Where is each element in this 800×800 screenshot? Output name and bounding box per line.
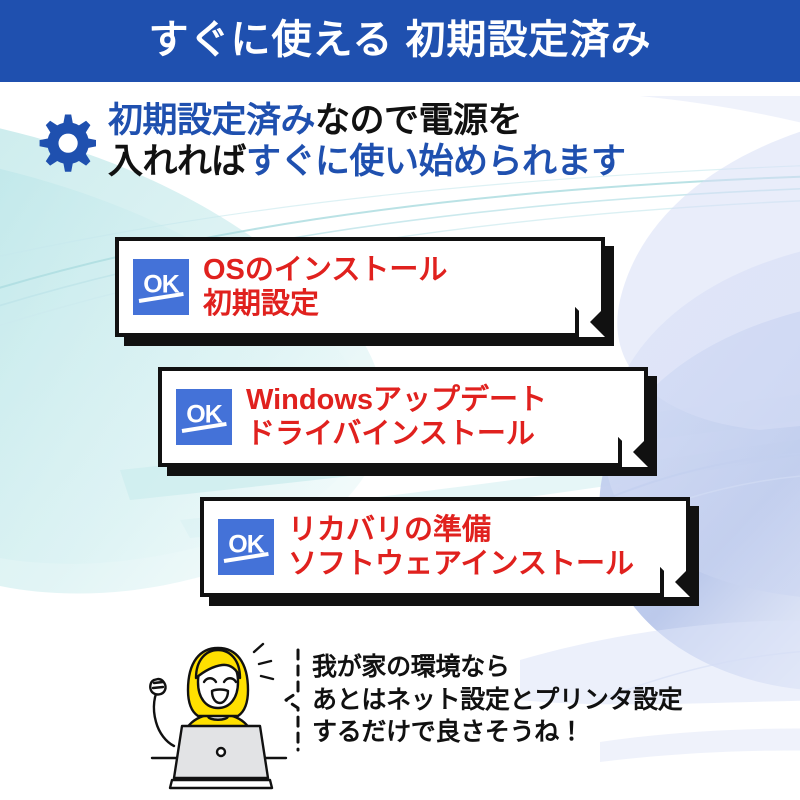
headline-line-1: 初期設定済みなので電源を xyxy=(108,100,626,141)
speech-callout: 我が家の環境なら あとはネット設定とプリンタ設定 するだけで良さそうね！ xyxy=(282,648,683,752)
checklist-item-3-line-2: ソフトウェアインストール xyxy=(288,547,634,581)
speech-line-2: あとはネット設定とプリンタ設定 xyxy=(312,684,683,717)
checklist-item-1-line-2: 初期設定 xyxy=(203,287,447,321)
headline-line-2: 入れればすぐに使い始められます xyxy=(108,141,626,182)
box-frame-2: OK Windowsアップデート ドライバインストール xyxy=(158,367,648,467)
headline-text: 初期設定済みなので電源を 入れればすぐに使い始められます xyxy=(108,98,626,183)
checklist-item-2-text: Windowsアップデート ドライバインストール xyxy=(246,383,547,451)
speech-line-3: するだけで良さそうね！ xyxy=(312,716,683,749)
ok-badge-icon: OK xyxy=(133,259,189,315)
speech-line-1: 我が家の環境なら xyxy=(312,651,683,684)
box-frame-1: OK OSのインストール 初期設定 xyxy=(115,237,605,337)
headline-section: 初期設定済みなので電源を 入れればすぐに使い始められます xyxy=(34,98,774,208)
checklist-item-2: OK Windowsアップデート ドライバインストール xyxy=(158,367,648,467)
speech-text: 我が家の環境なら あとはネット設定とプリンタ設定 するだけで良さそうね！ xyxy=(312,651,683,749)
checklist-item-2-line-2: ドライバインストール xyxy=(246,417,547,451)
checklist-item-1-text: OSのインストール 初期設定 xyxy=(203,253,447,321)
checklist-item-3-line-1: リカバリの準備 xyxy=(288,513,634,547)
box-frame-3: OK リカバリの準備 ソフトウェアインストール xyxy=(200,497,690,597)
headline-line-1-blue: 初期設定済み xyxy=(108,101,315,140)
poster-canvas: すぐに使える 初期設定済み 初期設定済みなので電源を 入れればすぐに使い始められ… xyxy=(0,0,800,800)
ok-badge-icon: OK xyxy=(218,519,274,575)
checklist-item-1: OK OSのインストール 初期設定 xyxy=(115,237,605,337)
gear-icon xyxy=(34,112,96,174)
checklist-item-3: OK リカバリの準備 ソフトウェアインストール xyxy=(200,497,690,597)
checklist-item-2-line-1: Windowsアップデート xyxy=(246,383,547,417)
checklist-item-1-line-1: OSのインストール xyxy=(203,253,447,287)
header-banner: すぐに使える 初期設定済み xyxy=(0,0,800,82)
woman-with-laptop-icon xyxy=(138,638,298,793)
headline-line-2-blue: すぐに使い始められます xyxy=(246,142,626,181)
banner-title: すぐに使える 初期設定済み xyxy=(149,20,652,60)
ok-badge-icon: OK xyxy=(176,389,232,445)
headline-line-2-black: 入れれば xyxy=(108,142,246,181)
speech-bracket-icon xyxy=(282,648,304,752)
checklist-item-3-text: リカバリの準備 ソフトウェアインストール xyxy=(288,513,634,581)
headline-line-1-black: なので電源を xyxy=(315,101,522,140)
